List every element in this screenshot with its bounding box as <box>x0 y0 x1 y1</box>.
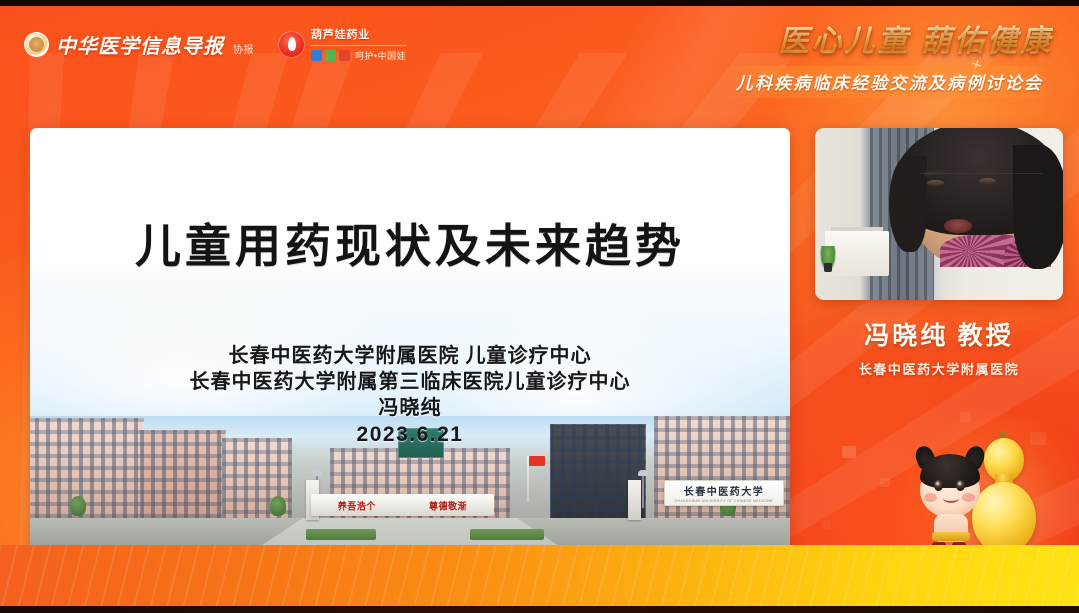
pharma-flame-icon <box>278 31 305 58</box>
bottom-gradient-band <box>0 545 1079 613</box>
slide-line-2: 长春中医药大学附属第三临床医院儿童诊疗中心 <box>30 369 790 395</box>
sparkle-pixel <box>960 412 971 422</box>
pharma-name: 葫芦娃药业 <box>311 26 406 42</box>
slide-line-1: 长春中医药大学附属医院 儿童诊疗中心 <box>30 343 790 369</box>
pharma-text-block: 葫芦娃药业 呵护•中国娃 <box>311 26 406 62</box>
speaker-video-feed[interactable] <box>815 128 1063 300</box>
cma-journal-logo: 中华医学信息导报 协报 <box>24 30 254 59</box>
mascot-eye-left <box>934 480 943 491</box>
cma-seal-icon <box>24 32 49 57</box>
pharma-chip-blue-icon <box>311 50 322 61</box>
event-subtitle: 儿科疾病临床经验交流及病例讨论会 <box>736 69 1043 94</box>
sparkle-pixel <box>822 520 831 529</box>
university-board-text: 长春中医药大学 <box>684 483 765 498</box>
stone-sign-left-text: 养吾浩个 <box>338 498 376 512</box>
slide-line-3: 冯晓纯 <box>30 395 790 421</box>
university-board-subtext: CHANGCHUN UNIVERSITY OF CHINESE MEDICINE <box>675 498 773 503</box>
broadcast-stage: 中华医学信息导报 协报 葫芦娃药业 呵护•中国娃 医心儿童 葫佑健康 儿科疾病临… <box>0 0 1079 613</box>
campus-lawn <box>470 529 544 540</box>
speaker-organization: 长春中医药大学附属医院 <box>815 359 1063 378</box>
speaker-caption: 冯晓纯 教授 长春中医药大学附属医院 <box>815 316 1063 378</box>
mascot-smile <box>943 494 959 503</box>
sparkle-pixel <box>842 446 856 458</box>
campus-tree <box>70 496 86 516</box>
mascot-eye-right <box>956 480 965 491</box>
pharma-divider <box>311 45 406 46</box>
slide-line-4: 2023.6.21 <box>30 421 790 448</box>
pharma-slogan: 呵护•中国娃 <box>355 49 406 62</box>
cma-wordmark: 中华医学信息导报 <box>56 30 224 59</box>
pharma-chip-red-icon <box>339 50 350 61</box>
event-title-block: 医心儿童 葫佑健康 儿科疾病临床经验交流及病例讨论会 <box>726 16 1053 98</box>
presentation-slide[interactable]: 养吾浩个 尊德敬渐 长春中医药大学 CHANGCHUN UNIVERSITY O… <box>30 128 790 558</box>
speaker-eye-left <box>927 180 944 186</box>
sparkle-pixel <box>880 478 890 487</box>
campus-gate-pillar <box>628 480 641 520</box>
campus-university-board: 长春中医药大学 CHANGCHUN UNIVERSITY OF CHINESE … <box>664 480 784 506</box>
mascot-child <box>912 448 996 560</box>
campus-flag-icon <box>529 456 545 466</box>
speaker-hair-left <box>889 156 926 252</box>
campus-stone-sign: 养吾浩个 尊德敬渐 <box>311 494 493 516</box>
speaker-name: 冯晓纯 教授 <box>815 316 1063 352</box>
bottom-letterbox-edge <box>0 606 1079 613</box>
campus-tree <box>270 496 286 516</box>
slide-subtitle-block: 长春中医药大学附属医院 儿童诊疗中心 长春中医药大学附属第三临床医院儿童诊疗中心… <box>30 343 790 448</box>
slide-title: 儿童用药现状及未来趋势 <box>30 210 790 276</box>
video-plant <box>820 246 836 272</box>
top-letterbox-edge <box>0 0 1079 6</box>
campus-lawn <box>306 529 376 540</box>
mascot-belt <box>932 532 970 541</box>
mascot-blush-left <box>924 493 937 502</box>
campus-street-lamp <box>642 474 644 508</box>
speaker-eye-right <box>979 178 996 184</box>
header-logo-row: 中华医学信息导报 协报 葫芦娃药业 呵护•中国娃 <box>24 26 406 62</box>
pharma-sponsor-logo: 葫芦娃药业 呵护•中国娃 <box>278 26 406 62</box>
event-title: 医心儿童 葫佑健康 <box>726 16 1053 60</box>
speaker-mouth <box>944 219 972 233</box>
stone-sign-right-text: 尊德敬渐 <box>429 498 467 512</box>
speaker-hair-right <box>1013 145 1063 269</box>
pharma-slogan-row: 呵护•中国娃 <box>311 49 406 62</box>
event-subtitle-bar: 儿科疾病临床经验交流及病例讨论会 <box>726 66 1053 98</box>
mascot-blush-right <box>962 493 975 502</box>
cma-suffix: 协报 <box>233 41 254 59</box>
pharma-chip-green-icon <box>325 50 336 61</box>
